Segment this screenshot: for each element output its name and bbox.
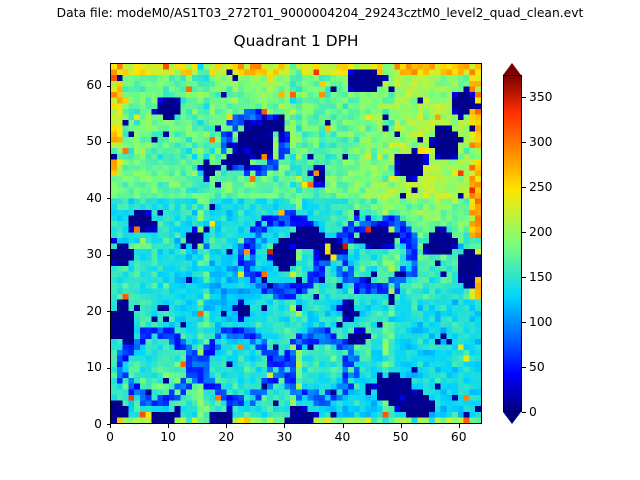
- colorbar-over-arrow: [503, 63, 521, 75]
- x-tick-label: 20: [196, 430, 256, 445]
- x-tick-label: 60: [429, 430, 489, 445]
- colorbar-tick-label: 300: [529, 135, 552, 150]
- page-title: Quadrant 1 DPH: [110, 32, 482, 51]
- colorbar-tick-mark: [522, 142, 526, 143]
- y-tick-mark: [107, 142, 111, 143]
- detector-heatmap-image: [111, 64, 481, 423]
- x-tick-label: 50: [371, 430, 431, 445]
- y-tick-mark: [107, 255, 111, 256]
- x-tick-mark: [401, 424, 402, 428]
- y-tick-label: 40: [58, 191, 102, 206]
- x-tick-mark: [459, 424, 460, 428]
- colorbar-tick-label: 150: [529, 270, 552, 285]
- y-tick-mark: [107, 311, 111, 312]
- colorbar-tick-label: 200: [529, 225, 552, 240]
- data-file-suptitle: Data file: modeM0/AS1T03_272T01_90000042…: [0, 6, 640, 21]
- colorbar-tick-mark: [522, 187, 526, 188]
- colorbar-tick-mark: [522, 367, 526, 368]
- colorbar-tick-mark: [522, 232, 526, 233]
- y-tick-label: 50: [58, 134, 102, 149]
- colorbar-tick-label: 250: [529, 180, 552, 195]
- matplotlib-figure: Data file: modeM0/AS1T03_272T01_90000042…: [0, 0, 640, 480]
- colorbar-tick-label: 350: [529, 90, 552, 105]
- y-tick-label: 20: [58, 304, 102, 319]
- colorbar-tick-mark: [522, 97, 526, 98]
- colorbar-body: [503, 75, 522, 412]
- colorbar-tick-label: 100: [529, 315, 552, 330]
- x-tick-label: 40: [313, 430, 373, 445]
- x-tick-label: 0: [80, 430, 140, 445]
- x-tick-label: 30: [254, 430, 314, 445]
- colorbar-tick-mark: [522, 412, 526, 413]
- heatmap-axes: [110, 63, 482, 424]
- y-tick-mark: [107, 198, 111, 199]
- colorbar-tick-mark: [522, 277, 526, 278]
- y-tick-label: 10: [58, 360, 102, 375]
- x-tick-mark: [284, 424, 285, 428]
- y-tick-mark: [107, 368, 111, 369]
- colorbar-tick-label: 50: [529, 360, 545, 375]
- x-tick-mark: [226, 424, 227, 428]
- x-tick-mark: [168, 424, 169, 428]
- colorbar-tick-mark: [522, 322, 526, 323]
- colorbar-tick-label: 0: [529, 405, 537, 420]
- x-tick-label: 10: [138, 430, 198, 445]
- colorbar-gradient: [504, 76, 521, 411]
- y-tick-label: 0: [58, 417, 102, 432]
- x-tick-mark: [343, 424, 344, 428]
- y-tick-label: 60: [58, 78, 102, 93]
- y-tick-mark: [107, 424, 111, 425]
- y-tick-mark: [107, 86, 111, 87]
- colorbar: [503, 63, 522, 424]
- x-tick-mark: [110, 424, 111, 428]
- y-tick-label: 30: [58, 247, 102, 262]
- colorbar-under-arrow: [503, 412, 521, 424]
